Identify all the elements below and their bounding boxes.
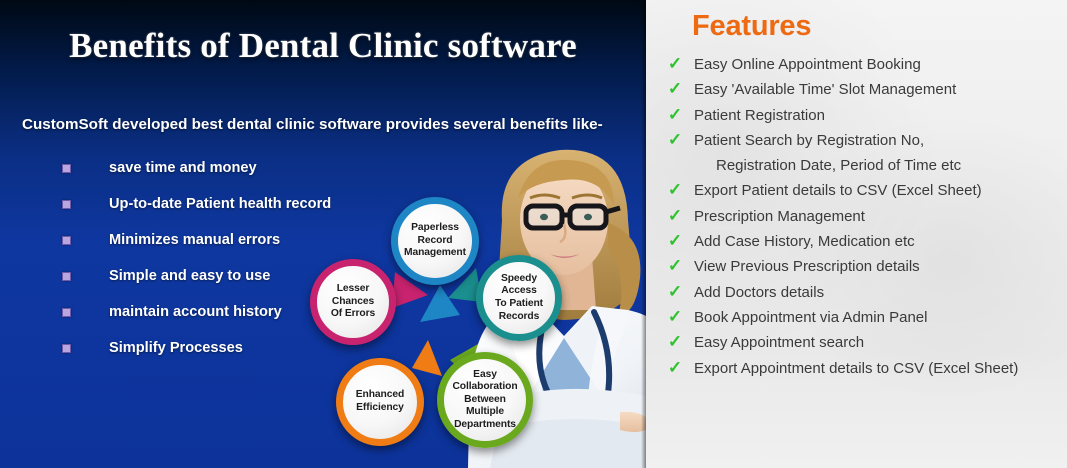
list-item-continuation: Registration Date, Period of Time etc xyxy=(656,154,1067,179)
bubble-speedy-access-to-patient-records[interactable]: SpeedyAccessTo PatientRecords xyxy=(476,255,562,341)
check-icon: ✓ xyxy=(656,255,694,277)
list-item: ✓ Patient Search by Registration No, xyxy=(656,129,1067,154)
bubble-paperless-record-management[interactable]: PaperlessRecordManagement xyxy=(391,197,479,285)
check-icon: ✓ xyxy=(656,331,694,353)
feature-label: Patient Registration xyxy=(694,104,825,127)
list-item: ✓ Book Appointment via Admin Panel xyxy=(656,306,1067,331)
page-title: Benefits of Dental Clinic software xyxy=(0,26,646,66)
list-item: ✓ Export Appointment details to CSV (Exc… xyxy=(656,357,1067,382)
bubble-easy-collaboration-between-multiple-departments[interactable]: EasyCollaborationBetweenMultipleDepartme… xyxy=(437,352,533,448)
list-item: ✓ Prescription Management xyxy=(656,205,1067,230)
check-icon: ✓ xyxy=(656,205,694,227)
square-bullet-icon xyxy=(62,236,71,245)
check-icon: ✓ xyxy=(656,179,694,201)
bubble-lesser-chances-of-errors[interactable]: LesserChancesOf Errors xyxy=(310,259,396,345)
square-bullet-icon xyxy=(62,272,71,281)
list-item: ✓ Add Case History, Medication etc xyxy=(656,230,1067,255)
benefit-label: save time and money xyxy=(109,160,257,176)
list-item: ✓ Easy Appointment search xyxy=(656,331,1067,356)
check-icon: ✓ xyxy=(656,104,694,126)
features-heading: Features xyxy=(692,10,811,43)
bubble-enhanced-efficiency[interactable]: EnhancedEfficiency xyxy=(336,358,424,446)
benefit-label: Simplify Processes xyxy=(109,340,243,356)
check-icon: ✓ xyxy=(656,78,694,100)
check-icon-placeholder xyxy=(656,154,694,176)
feature-label: Patient Search by Registration No, xyxy=(694,129,924,152)
list-item: ✓ Easy Online Appointment Booking xyxy=(656,53,1067,78)
benefit-label: Up-to-date Patient health record xyxy=(109,196,331,212)
feature-label: Add Doctors details xyxy=(694,281,824,304)
bubble-label: SpeedyAccessTo PatientRecords xyxy=(495,273,543,323)
check-icon: ✓ xyxy=(656,129,694,151)
feature-label: Export Patient details to CSV (Excel She… xyxy=(694,179,982,202)
infographic-canvas: Benefits of Dental Clinic software Custo… xyxy=(0,0,1067,468)
square-bullet-icon xyxy=(62,164,71,173)
feature-label: Easy Appointment search xyxy=(694,331,864,354)
right-panel: Features ✓ Easy Online Appointment Booki… xyxy=(646,0,1067,468)
list-item: save time and money xyxy=(62,150,392,186)
list-item: ✓ View Previous Prescription details xyxy=(656,255,1067,280)
benefit-label: maintain account history xyxy=(109,304,282,320)
bubble-label: EasyCollaborationBetweenMultipleDepartme… xyxy=(452,369,517,432)
list-item: ✓ Patient Registration xyxy=(656,104,1067,129)
list-item: ✓ Add Doctors details xyxy=(656,281,1067,306)
feature-label: View Previous Prescription details xyxy=(694,255,920,278)
check-icon: ✓ xyxy=(656,306,694,328)
bubble-label: PaperlessRecordManagement xyxy=(404,222,466,260)
bubble-label: LesserChancesOf Errors xyxy=(331,283,375,321)
benefit-label: Simple and easy to use xyxy=(109,268,270,284)
feature-label: Prescription Management xyxy=(694,205,865,228)
feature-label: Easy 'Available Time' Slot Management xyxy=(694,78,956,101)
check-icon: ✓ xyxy=(656,281,694,303)
square-bullet-icon xyxy=(62,308,71,317)
list-item: ✓ Easy 'Available Time' Slot Management xyxy=(656,78,1067,103)
benefit-label: Minimizes manual errors xyxy=(109,232,280,248)
feature-label: Export Appointment details to CSV (Excel… xyxy=(694,357,1018,380)
check-icon: ✓ xyxy=(656,230,694,252)
feature-label: Easy Online Appointment Booking xyxy=(694,53,921,76)
left-panel: Benefits of Dental Clinic software Custo… xyxy=(0,0,646,468)
square-bullet-icon xyxy=(62,344,71,353)
check-icon: ✓ xyxy=(656,53,694,75)
feature-label: Book Appointment via Admin Panel xyxy=(694,306,927,329)
feature-label: Add Case History, Medication etc xyxy=(694,230,915,253)
bubble-label: EnhancedEfficiency xyxy=(356,389,404,414)
features-list: ✓ Easy Online Appointment Booking ✓ Easy… xyxy=(656,53,1067,382)
check-icon: ✓ xyxy=(656,357,694,379)
list-item: ✓ Export Patient details to CSV (Excel S… xyxy=(656,179,1067,204)
square-bullet-icon xyxy=(62,200,71,209)
feature-label: Registration Date, Period of Time etc xyxy=(694,154,961,177)
